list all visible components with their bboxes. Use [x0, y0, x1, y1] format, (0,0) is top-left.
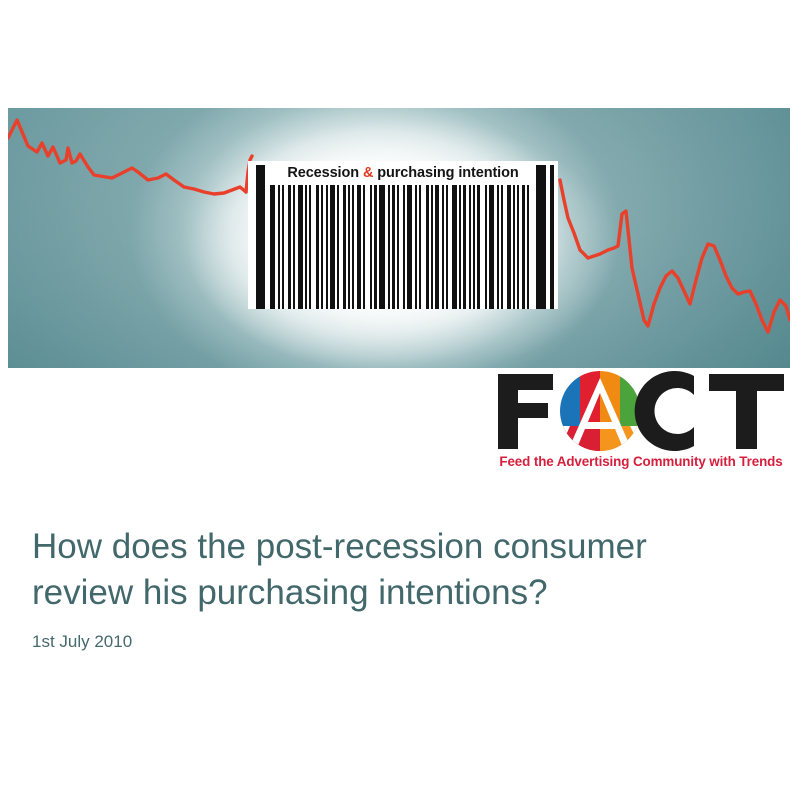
barcode-bar [357, 185, 361, 309]
barcode-bar [270, 185, 275, 309]
fact-logo-mark [496, 370, 786, 452]
barcode-bar [374, 185, 377, 309]
logo-letter-t [709, 374, 784, 449]
barcode-bar [469, 185, 471, 309]
a-skirt-left-gap [558, 426, 570, 452]
barcode-bar [407, 185, 412, 309]
barcode-bar [352, 185, 354, 309]
barcode-bar [305, 185, 307, 309]
barcode-bar [527, 185, 529, 309]
barcode-bar [459, 185, 461, 309]
barcode-guard-left [256, 165, 265, 309]
barcode-bars [248, 185, 558, 309]
barcode-bar [507, 185, 511, 309]
barcode-bar [309, 185, 311, 309]
barcode-bar [463, 185, 466, 309]
trend-line-right [560, 180, 790, 332]
barcode-bar [337, 185, 339, 309]
barcode-bar [321, 185, 323, 309]
barcode-bar [477, 185, 480, 309]
barcode-bar [489, 185, 494, 309]
barcode-bar [426, 185, 429, 309]
logo-letter-a-mark [558, 370, 644, 452]
barcode-bar [431, 185, 433, 309]
a-crossbar-gap [584, 422, 616, 429]
barcode-bar [282, 185, 284, 309]
barcode-bar [452, 185, 457, 309]
fact-logo: Feed the Advertising Community with Tren… [496, 370, 786, 482]
barcode-bar [435, 185, 439, 309]
logo-letter-c [635, 371, 694, 451]
barcode-bar [517, 185, 519, 309]
barcode-bar [446, 185, 448, 309]
barcode-bar [326, 185, 328, 309]
barcode-title-label: Recession & purchasing intention [248, 165, 558, 181]
barcode-bar [392, 185, 395, 309]
barcode-bar [293, 185, 295, 309]
barcode-bar [379, 185, 385, 309]
page-title: How does the post-recession consumer rev… [32, 524, 772, 616]
barcode-bar [403, 185, 405, 309]
barcode-bar [330, 185, 335, 309]
barcode-bar [298, 185, 303, 309]
barcode-bar [370, 185, 372, 309]
barcode-bar [348, 185, 350, 309]
barcode-title-ampersand: & [363, 165, 373, 181]
barcode-title-suffix: purchasing intention [373, 165, 518, 181]
barcode-bar [473, 185, 475, 309]
title-block: How does the post-recession consumer rev… [32, 524, 772, 652]
barcode-bar [343, 185, 346, 309]
barcode-guard-right [536, 165, 546, 309]
barcode-bar [388, 185, 390, 309]
barcode-bar [497, 185, 499, 309]
barcode-bar [513, 185, 515, 309]
trend-line-left [8, 120, 246, 194]
barcode-guard-right-edge [550, 165, 554, 309]
barcode-bar [278, 185, 280, 309]
barcode-bar [419, 185, 421, 309]
barcode-bar [522, 185, 525, 309]
barcode-bar [485, 185, 487, 309]
barcode-bar [397, 185, 399, 309]
barcode-bar [501, 185, 503, 309]
barcode-bar [316, 185, 319, 309]
barcode-bar [415, 185, 417, 309]
barcode-title-prefix: Recession [287, 165, 363, 181]
logo-letter-f [498, 374, 553, 449]
barcode-bar [288, 185, 291, 309]
document-date: 1st July 2010 [32, 632, 772, 652]
recession-banner: Recession & purchasing intention [8, 108, 790, 368]
barcode-graphic: Recession & purchasing intention [248, 161, 558, 309]
barcode-bar [363, 185, 365, 309]
fact-logo-tagline: Feed the Advertising Community with Tren… [496, 454, 786, 469]
barcode-bar [442, 185, 444, 309]
